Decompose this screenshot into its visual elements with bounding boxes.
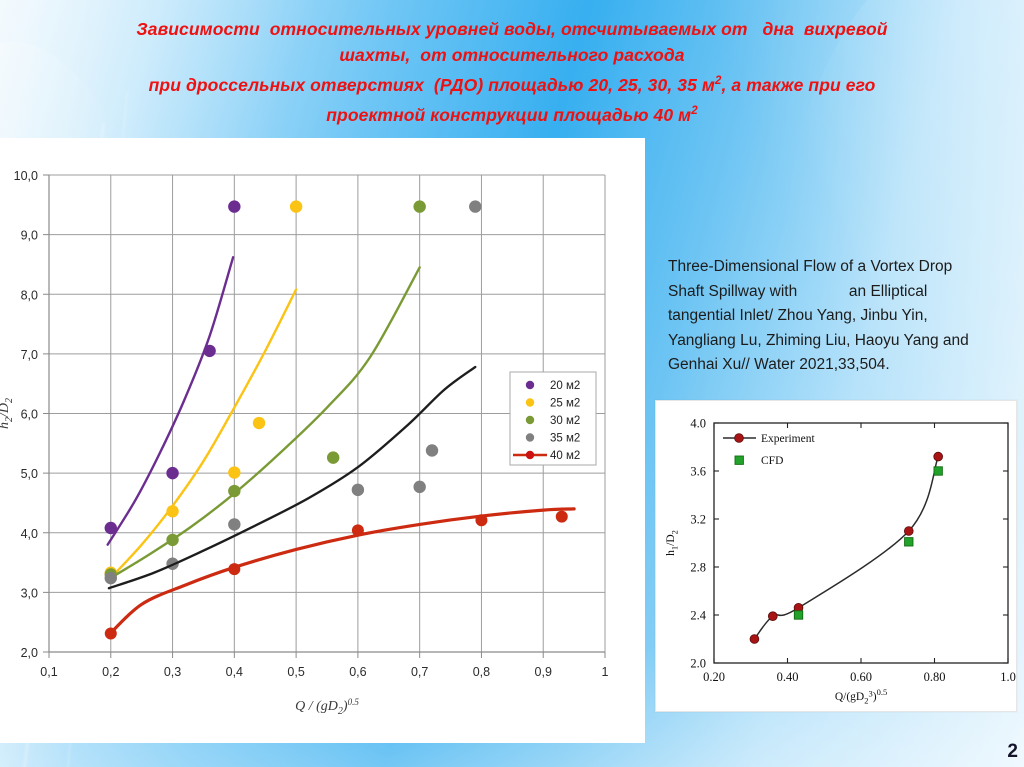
inset-x-tick-label: 0.80 — [924, 670, 946, 684]
y-tick-label: 10,0 — [14, 169, 38, 183]
inset-cfd-marker — [794, 611, 802, 619]
y-tick-label: 8,0 — [21, 288, 38, 302]
y-axis-title: h2/D2 — [0, 398, 15, 429]
chart-legend: 20 м225 м230 м235 м240 м2 — [510, 372, 596, 465]
data-point-marker — [166, 534, 178, 546]
inset-y-tick-label: 2.4 — [690, 609, 706, 623]
title-line-4-sup: 2 — [691, 105, 698, 117]
x-tick-label: 0,7 — [411, 665, 428, 679]
data-point-marker — [228, 485, 240, 497]
slide-title: Зависимости относительных уровней воды, … — [40, 16, 984, 128]
data-point-marker — [469, 200, 481, 212]
data-point-marker — [253, 417, 265, 429]
legend-label: 20 м2 — [550, 380, 580, 392]
inset-experiment-marker — [904, 527, 913, 536]
data-point-marker — [413, 200, 425, 212]
title-line-2: шахты, от относительного расхода — [40, 42, 984, 68]
inset-cfd-marker — [934, 467, 942, 475]
x-tick-label: 0,1 — [40, 665, 57, 679]
legend-label: 40 м2 — [550, 450, 580, 462]
y-tick-label: 6,0 — [21, 408, 38, 422]
inset-x-tick-label: 1.0 — [1000, 670, 1016, 684]
x-tick-label: 0,2 — [102, 665, 119, 679]
data-point-marker — [352, 524, 364, 536]
title-line-4a: проектной конструкции площадью 40 м — [326, 105, 691, 125]
data-point-marker — [556, 511, 568, 523]
data-point-marker — [228, 200, 240, 212]
inset-experiment-marker — [768, 612, 777, 621]
inset-y-tick-label: 2.8 — [690, 561, 706, 575]
data-point-marker — [166, 505, 178, 517]
legend-label: 30 м2 — [550, 415, 580, 427]
slide-canvas: Зависимости относительных уровней воды, … — [0, 0, 1024, 767]
data-point-marker — [228, 518, 240, 530]
x-tick-label: 1 — [602, 665, 609, 679]
title-line-3: при дроссельных отверстиях (РДО) площадь… — [40, 68, 984, 98]
reference-line-2: Shaft Spillway with an Elliptical — [668, 280, 1018, 305]
y-tick-label: 9,0 — [21, 229, 38, 243]
y-tick-label: 7,0 — [21, 348, 38, 362]
inset-chart-svg: 0.200.400.600.801.02.02.42.83.23.64.0h1/… — [656, 401, 1016, 711]
data-point-marker — [228, 466, 240, 478]
data-point-marker — [290, 200, 302, 212]
main-chart-plot: 0,10,20,30,40,50,60,70,80,912,03,04,05,0… — [0, 138, 645, 743]
data-point-marker — [327, 451, 339, 463]
inset-x-tick-label: 0.40 — [777, 670, 799, 684]
inset-y-tick-label: 3.2 — [690, 513, 706, 527]
y-tick-label: 5,0 — [21, 467, 38, 481]
y-tick-label: 2,0 — [21, 646, 38, 660]
inset-cfd-marker — [905, 538, 913, 546]
inset-experiment-marker — [934, 452, 943, 461]
inset-y-tick-label: 3.6 — [690, 465, 706, 479]
y-tick-label: 3,0 — [21, 586, 38, 600]
inset-legend-label-experiment: Experiment — [761, 433, 815, 445]
x-tick-label: 0,4 — [226, 665, 243, 679]
page-number: 2 — [1007, 741, 1018, 763]
data-point-marker — [105, 572, 117, 584]
y-tick-label: 4,0 — [21, 527, 38, 541]
inset-x-tick-label: 0.60 — [850, 670, 872, 684]
main-chart-svg: 0,10,20,30,40,50,60,70,80,912,03,04,05,0… — [0, 138, 645, 743]
legend-label: 35 м2 — [550, 433, 580, 445]
reference-line-4: Yangliang Lu, Zhiming Liu, Haoyu Yang an… — [668, 329, 1018, 354]
data-point-marker — [203, 345, 215, 357]
data-point-marker — [228, 563, 240, 575]
main-chart-panel: 0,10,20,30,40,50,60,70,80,912,03,04,05,0… — [0, 138, 645, 743]
inset-x-tick-label: 0.20 — [703, 670, 725, 684]
data-point-marker — [426, 444, 438, 456]
reference-line-1: Three-Dimensional Flow of a Vortex Drop — [668, 255, 1018, 280]
data-point-marker — [166, 467, 178, 479]
inset-legend-label-cfd: CFD — [761, 455, 783, 467]
x-tick-label: 0,6 — [349, 665, 366, 679]
title-line-4: проектной конструкции площадью 40 м2 — [40, 98, 984, 128]
reference-line-3: tangential Inlet/ Zhou Yang, Jinbu Yin, — [668, 304, 1018, 329]
inset-y-tick-label: 2.0 — [690, 657, 706, 671]
inset-figure-panel: 0.200.400.600.801.02.02.42.83.23.64.0h1/… — [655, 400, 1017, 712]
data-point-marker — [413, 481, 425, 493]
inset-y-tick-label: 4.0 — [690, 417, 706, 431]
data-point-marker — [475, 514, 487, 526]
data-point-marker — [105, 628, 117, 640]
title-line-3a: при дроссельных отверстиях (РДО) площадь… — [149, 75, 715, 95]
x-tick-label: 0,5 — [287, 665, 304, 679]
data-point-marker — [352, 484, 364, 496]
data-point-marker — [105, 522, 117, 534]
title-line-3b: , а также при его — [721, 75, 875, 95]
reference-line-5: Genhai Xu// Water 2021,33,504. — [668, 353, 1018, 378]
reference-citation: Three-Dimensional Flow of a Vortex Drop … — [668, 255, 1018, 378]
x-tick-label: 0,8 — [473, 665, 490, 679]
x-axis-title: Q / (gD2)0.5 — [295, 697, 359, 717]
title-line-1: Зависимости относительных уровней воды, … — [40, 16, 984, 42]
inset-experiment-marker — [750, 635, 759, 644]
x-tick-label: 0,9 — [535, 665, 552, 679]
legend-label: 25 м2 — [550, 398, 580, 410]
x-tick-label: 0,3 — [164, 665, 181, 679]
